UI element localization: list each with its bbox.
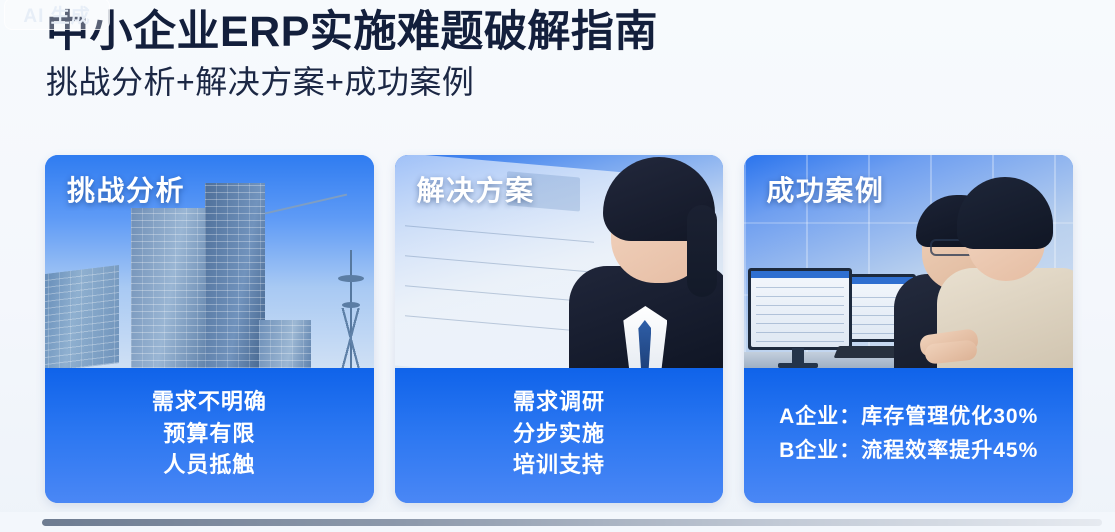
card-row: 挑战分析 需求不明确 预算有限 人员抵触 xyxy=(45,155,1073,503)
whiteboard-line xyxy=(404,255,594,273)
page-title: 中小企业ERP实施难题破解指南 xyxy=(46,8,658,56)
card-line: 预算有限 xyxy=(163,418,255,450)
page-subtitle: 挑战分析+解决方案+成功案例 xyxy=(46,64,658,101)
horizontal-scrollbar[interactable] xyxy=(0,512,1115,532)
whiteboard-line xyxy=(404,226,594,244)
card-text-panel: A企业：库存管理优化30% B企业：流程效率提升45% xyxy=(744,368,1073,503)
whiteboard-line xyxy=(404,315,594,333)
broadcast-tower-legs xyxy=(340,308,362,368)
broadcast-tower-ring-upper xyxy=(338,275,364,282)
card-image-businesswoman: 解决方案 xyxy=(395,155,724,368)
card-text-panel: 需求调研 分步实施 培训支持 xyxy=(395,368,724,503)
whiteboard-line xyxy=(404,285,594,303)
card-image-office-team: 成功案例 xyxy=(744,155,1073,368)
card-text-panel: 需求不明确 预算有限 人员抵触 xyxy=(45,368,374,503)
monitor-stand xyxy=(792,348,804,364)
building-mid xyxy=(131,208,211,368)
card-challenge-analysis[interactable]: 挑战分析 需求不明确 预算有限 人员抵触 xyxy=(45,155,374,503)
card-line: 分步实施 xyxy=(513,418,605,450)
person-hair-side xyxy=(687,205,717,297)
card-line: B企业：流程效率提升45% xyxy=(779,434,1038,468)
card-line: 需求不明确 xyxy=(152,386,267,418)
card-label: 成功案例 xyxy=(766,169,884,209)
slide-canvas: AI 生成 中小企业ERP实施难题破解指南 挑战分析+解决方案+成功案例 挑战分… xyxy=(0,0,1115,532)
header: 中小企业ERP实施难题破解指南 挑战分析+解决方案+成功案例 xyxy=(46,8,658,101)
card-label: 挑战分析 xyxy=(67,169,185,209)
card-solutions[interactable]: 解决方案 需求调研 分步实施 培训支持 xyxy=(395,155,724,503)
building-low xyxy=(259,320,311,368)
card-image-city-skyline: 挑战分析 xyxy=(45,155,374,368)
card-line: 需求调研 xyxy=(513,386,605,418)
card-label: 解决方案 xyxy=(417,169,535,209)
card-line: 人员抵触 xyxy=(163,449,255,481)
scrollbar-thumb[interactable] xyxy=(42,519,1102,526)
card-line: A企业：库存管理优化30% xyxy=(779,400,1038,434)
card-line: 培训支持 xyxy=(513,449,605,481)
building-tall xyxy=(205,183,265,368)
card-success-cases[interactable]: 成功案例 A企业：库存管理优化30% B企业：流程效率提升45% xyxy=(744,155,1073,503)
monitor-primary xyxy=(748,268,852,350)
building-left xyxy=(45,265,119,368)
monitor-base xyxy=(778,363,818,368)
